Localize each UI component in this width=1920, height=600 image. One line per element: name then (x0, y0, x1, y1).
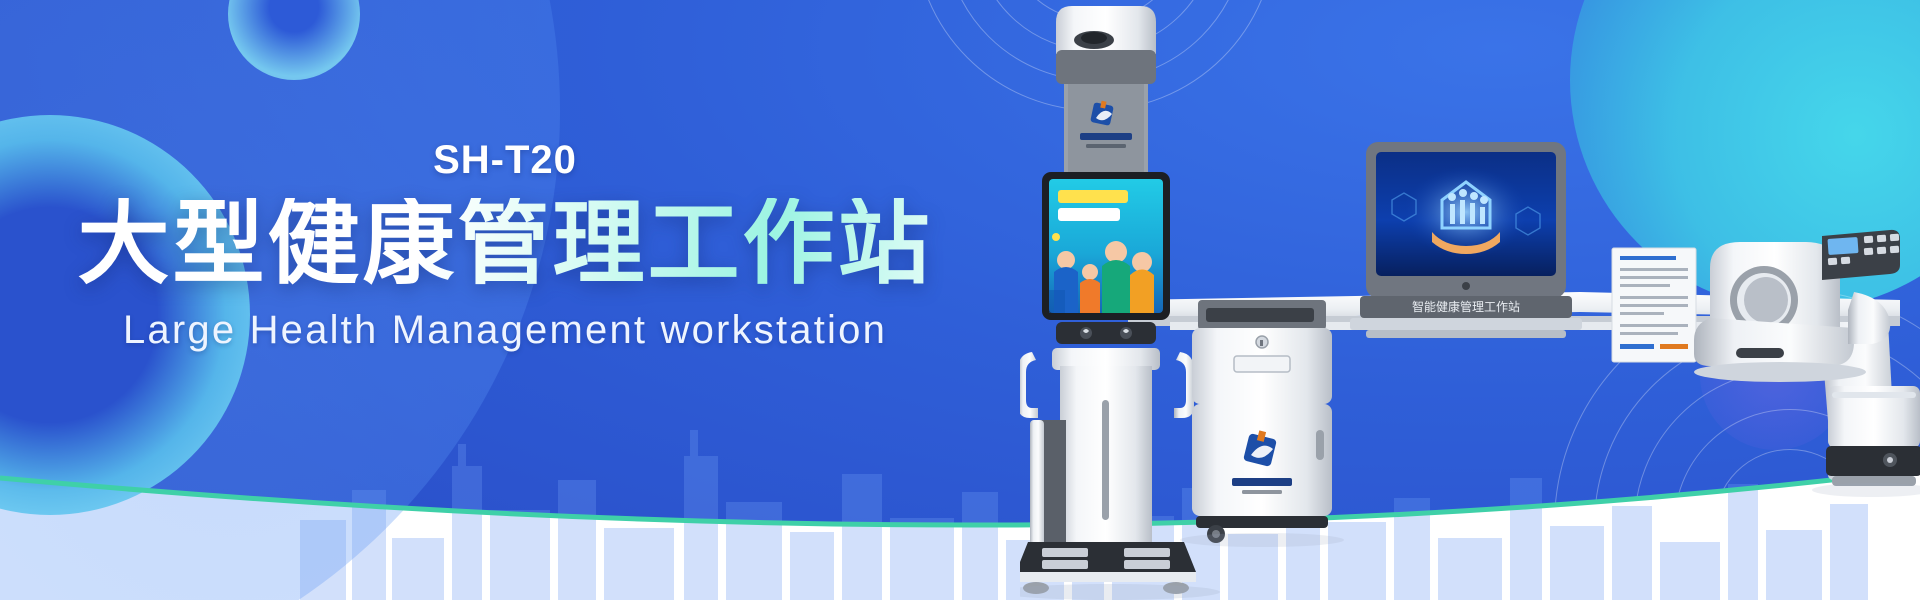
page-subtitle: Large Health Management workstation (0, 308, 1010, 352)
product-hero-banner: SH-T20 大型健康管理工作站 Large Health Management… (0, 0, 1920, 600)
headline-text-block: SH-T20 大型健康管理工作站 Large Health Management… (0, 140, 1010, 352)
weight-scale-platform (1020, 542, 1196, 594)
page-title: 大型健康管理工作站 (0, 198, 1010, 292)
model-code: SH-T20 (0, 140, 1010, 180)
